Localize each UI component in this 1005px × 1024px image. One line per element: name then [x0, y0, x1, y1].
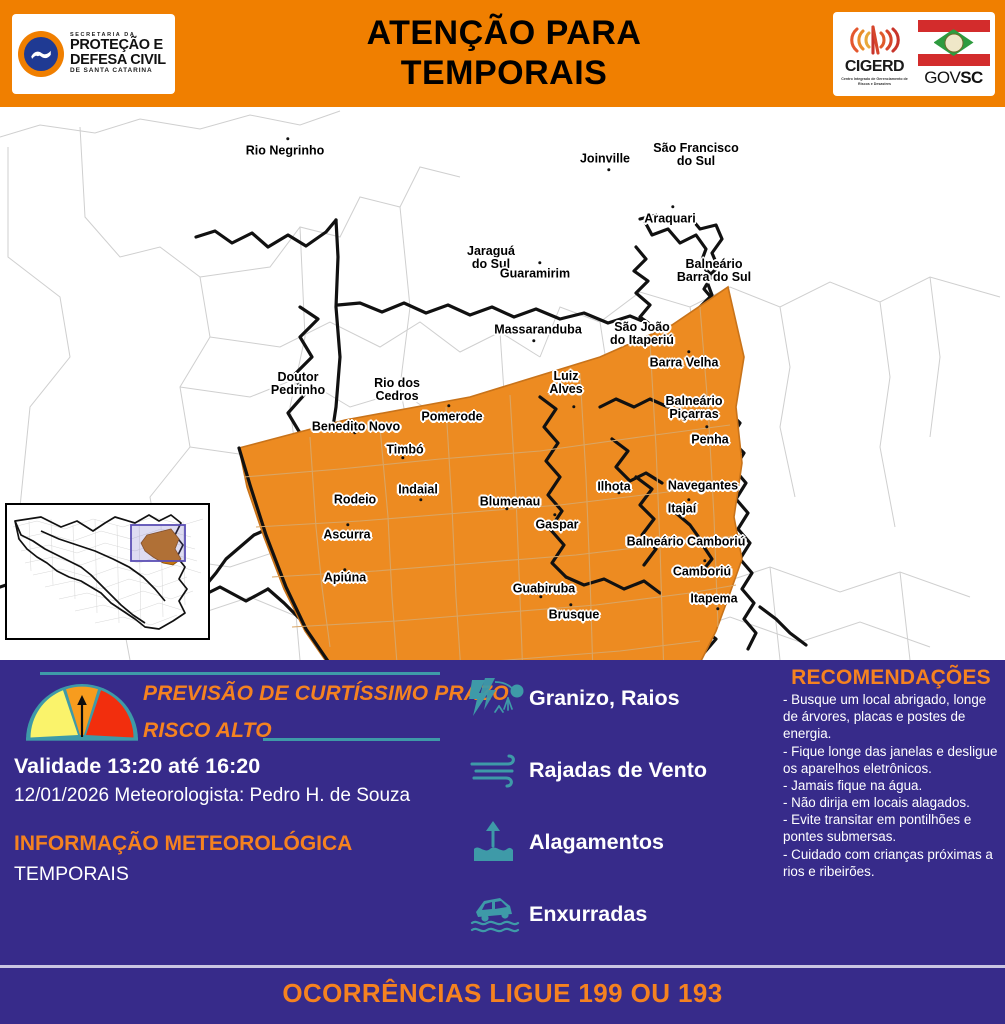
- city-label: Indaial: [398, 484, 438, 497]
- hazard-item-alagamentos[interactable]: Alagamentos: [467, 816, 664, 868]
- city-label: Araquari: [644, 213, 695, 226]
- city-label: Guaramirim: [500, 268, 570, 281]
- city-label: Balneário Camboriú: [627, 536, 746, 549]
- city-label: Ilhota: [597, 481, 630, 494]
- city-label: Guabiruba: [513, 583, 576, 596]
- risk-gauge: [22, 682, 142, 744]
- logo-line-protecao: PROTEÇÃO E: [70, 38, 166, 53]
- city-label: Gaspar: [535, 519, 578, 532]
- hazard-label: Granizo, Raios: [529, 686, 680, 711]
- city-label: Massaranduba: [494, 324, 582, 337]
- logo-line-defesa-civil: DEFESA CIVIL: [70, 53, 166, 68]
- city-label: Rio Negrinho: [246, 145, 324, 158]
- wind-gust-icon: [467, 747, 529, 793]
- hazard-item-enxurradas[interactable]: Enxurradas: [467, 888, 647, 940]
- city-label: São João do Itaperiú: [610, 321, 674, 347]
- city-label: Benedito Novo: [312, 421, 400, 434]
- city-label: Doutor Pedrinho: [271, 371, 325, 397]
- page-title-line-1: ATENÇÃO PARA: [179, 14, 829, 53]
- govsc-logo: GOVSC: [916, 20, 991, 88]
- city-label: Navegantes: [668, 480, 738, 493]
- hazard-item-rajadas-de-vento[interactable]: Rajadas de Vento: [467, 744, 707, 796]
- divider-risk: [263, 738, 440, 741]
- date-meteorologist-text: 12/01/2026 Meteorologista: Pedro H. de S…: [14, 785, 410, 807]
- hail-lightning-icon: [467, 675, 529, 721]
- recommendations-column: RECOMENDAÇÕES - Busque um local abrigado…: [775, 660, 1005, 965]
- city-label: Balneário Piçarras: [666, 395, 723, 421]
- flash-flood-car-icon: [467, 891, 529, 937]
- weather-alert-infographic: SECRETARIA DA PROTEÇÃO E DEFESA CIVIL DE…: [0, 0, 1005, 1024]
- footer-bar: OCORRÊNCIAS LIGUE 199 OU 193: [0, 965, 1005, 1024]
- govsc-suffix: SC: [960, 68, 982, 87]
- locator-inset-map[interactable]: [5, 503, 210, 640]
- divider-top: [40, 672, 440, 675]
- recommendation-item: - Fique longe das janelas e desligue os …: [783, 743, 999, 777]
- city-label: Joinville: [580, 153, 630, 166]
- recommendation-item: - Busque um local abrigado, longe de árv…: [783, 691, 999, 742]
- page-title: ATENÇÃO PARA TEMPORAIS: [175, 14, 833, 92]
- alert-area-map[interactable]: Rio NegrinhoJoinvilleSão Francisco do Su…: [0, 107, 1005, 660]
- city-label: Pomerode: [421, 411, 482, 424]
- city-label: Rodeio: [334, 494, 376, 507]
- city-label: Itajaí: [668, 503, 697, 516]
- info-panel: PREVISÃO DE CURTÍSSIMO PRAZO RISCO ALTO …: [0, 660, 1005, 965]
- city-label: Barra Velha: [650, 357, 719, 370]
- recommendation-item: - Não dirija em locais alagados.: [783, 794, 999, 811]
- forecast-type-label: PREVISÃO DE CURTÍSSIMO PRAZO: [143, 682, 509, 706]
- hazard-label: Alagamentos: [529, 830, 664, 855]
- city-label: Timbó: [386, 444, 423, 457]
- city-label: Penha: [691, 434, 729, 447]
- recommendations-title: RECOMENDAÇÕES: [783, 666, 999, 689]
- flooding-icon: [467, 819, 529, 865]
- logo-line-santa-catarina: DE SANTA CATARINA: [70, 68, 166, 75]
- recommendation-item: - Evite transitar em pontilhões e pontes…: [783, 811, 999, 845]
- cigerd-wordmark: CIGERD: [845, 59, 904, 75]
- defesa-civil-emblem-icon: [18, 31, 64, 77]
- defesa-civil-sc-logo: SECRETARIA DA PROTEÇÃO E DEFESA CIVIL DE…: [12, 14, 175, 94]
- partner-logos: CIGERD Centro Integrado de Gerenciamento…: [833, 12, 995, 96]
- city-label: Rio dos Cedros: [374, 377, 420, 403]
- city-label: Blumenau: [480, 496, 540, 509]
- city-label: Ascurra: [323, 529, 370, 542]
- city-label: Brusque: [549, 609, 600, 622]
- hazard-label: Rajadas de Vento: [529, 758, 707, 783]
- city-label: Itapema: [690, 593, 737, 606]
- meteorological-info-title: INFORMAÇÃO METEOROLÓGICA: [14, 832, 352, 856]
- hazard-label: Enxurradas: [529, 902, 647, 927]
- cigerd-subtitle: Centro Integrado de Gerenciamento de Ris…: [837, 77, 912, 87]
- risk-level-label: RISCO ALTO: [143, 719, 272, 743]
- city-label: Luiz Alves: [549, 370, 582, 396]
- govsc-wordmark: GOVSC: [924, 68, 982, 88]
- recommendation-item: - Cuidado com crianças próximas a rios e…: [783, 846, 999, 880]
- validity-text: Validade 13:20 até 16:20: [14, 754, 260, 779]
- city-label: Apiúna: [324, 572, 366, 585]
- santa-catarina-flag-icon: [918, 20, 990, 66]
- city-label: Balneário Barra do Sul: [677, 258, 751, 284]
- emergency-phone-text: OCORRÊNCIAS LIGUE 199 OU 193: [0, 978, 1005, 1009]
- inset-vector: [7, 505, 208, 638]
- header-bar: SECRETARIA DA PROTEÇÃO E DEFESA CIVIL DE…: [0, 0, 1005, 107]
- cigerd-mark-icon: [847, 21, 903, 59]
- city-label: Camboriú: [673, 566, 731, 579]
- govsc-prefix: GOV: [924, 68, 960, 87]
- meteorological-info-value: TEMPORAIS: [14, 863, 129, 886]
- recommendation-item: - Jamais fique na água.: [783, 777, 999, 794]
- recommendations-list: - Busque um local abrigado, longe de árv…: [783, 691, 999, 880]
- page-title-line-2: TEMPORAIS: [179, 54, 829, 93]
- footer-divider: [0, 965, 1005, 968]
- forecast-column: PREVISÃO DE CURTÍSSIMO PRAZO RISCO ALTO …: [0, 660, 455, 965]
- cigerd-logo: CIGERD Centro Integrado de Gerenciamento…: [837, 21, 912, 87]
- hazards-column: Granizo, Raios Rajadas de Vento: [455, 660, 775, 965]
- city-label: São Francisco do Sul: [653, 142, 738, 168]
- hazard-item-granizo-raios[interactable]: Granizo, Raios: [467, 672, 680, 724]
